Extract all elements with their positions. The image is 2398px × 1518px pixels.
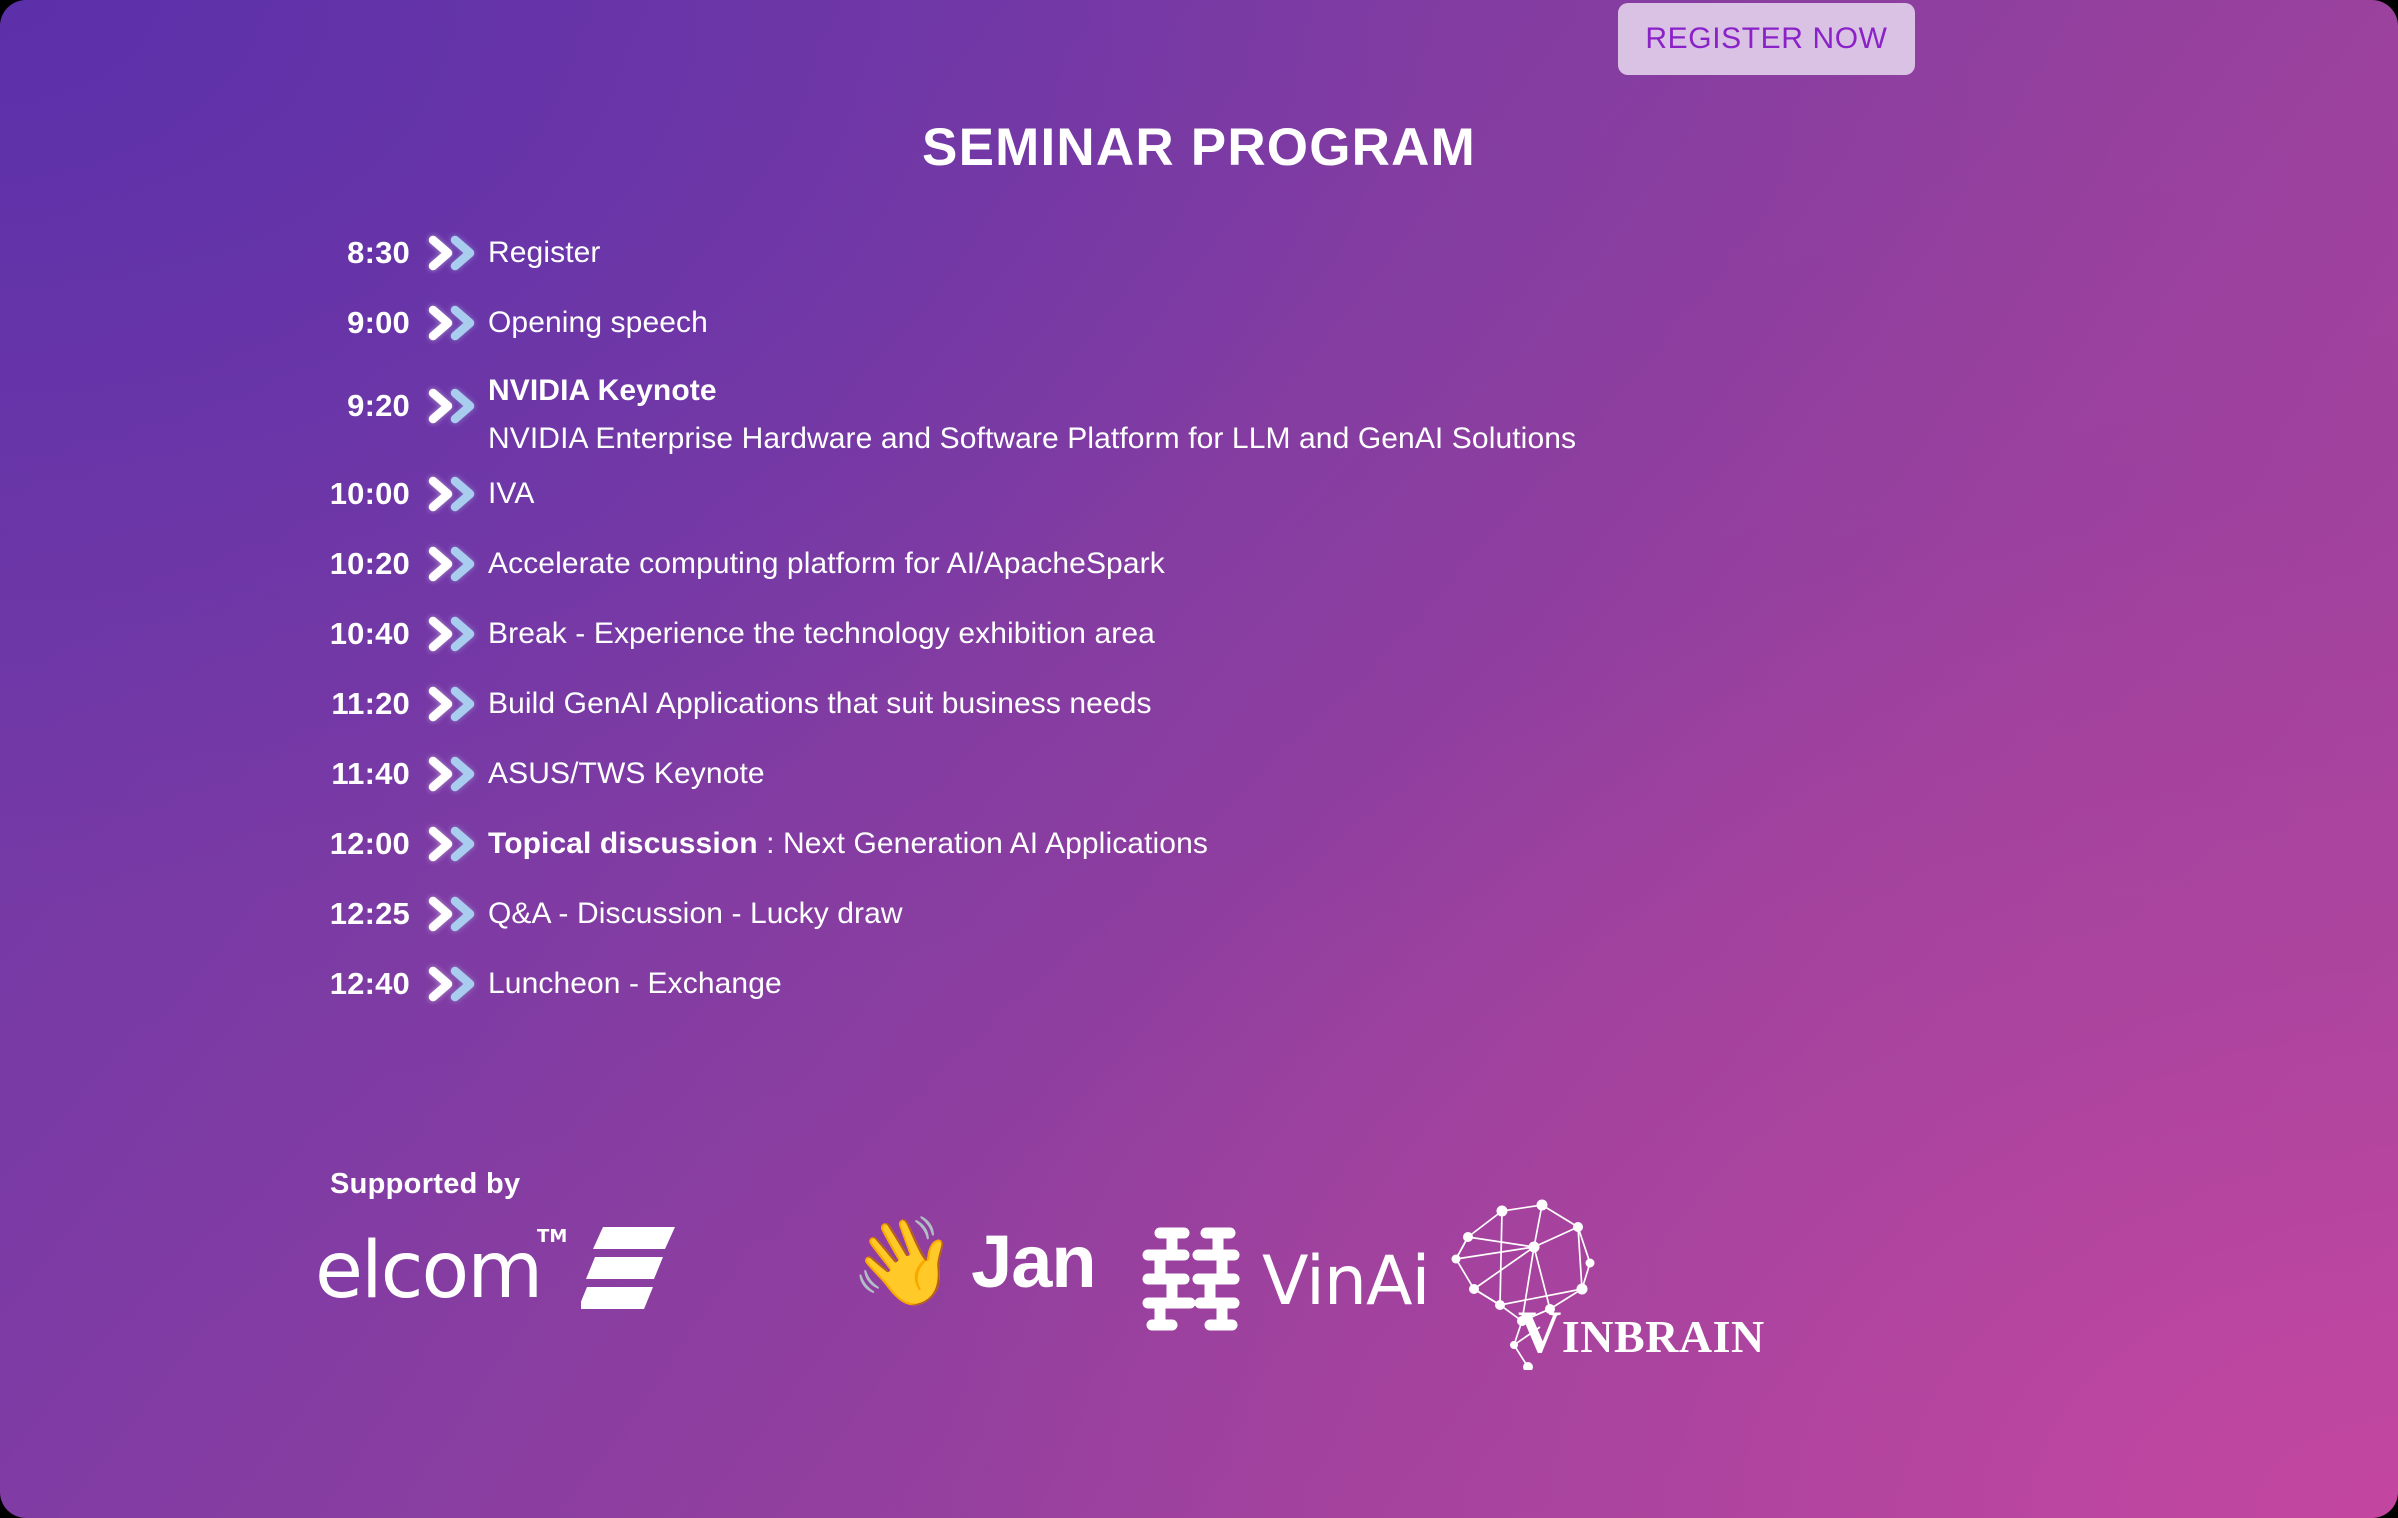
schedule-session-subtitle: NVIDIA Enterprise Hardware and Software …: [488, 419, 2398, 459]
schedule-row: 9:00 Opening speech: [0, 288, 2398, 358]
supported-by-label: Supported by: [330, 1168, 521, 1201]
logo-vinbrain-text: VINBRAIN: [1518, 1302, 1765, 1362]
schedule-description: Accelerate computing platform for AI/Apa…: [488, 529, 2398, 599]
double-chevron-right-icon: [410, 879, 488, 949]
page-title: SEMINAR PROGRAM: [0, 117, 2398, 178]
logo-jan-text: Jan: [971, 1225, 1096, 1299]
double-chevron-right-icon: [410, 599, 488, 669]
logo-elcom[interactable]: elcom TM: [315, 1225, 677, 1316]
schedule-row: 12:25 Q&A - Discussion - Lucky draw: [0, 879, 2398, 949]
schedule-description: Register: [488, 218, 2398, 288]
schedule-description-text: : Next Generation AI Applications: [758, 827, 1208, 860]
double-chevron-right-icon: [410, 459, 488, 529]
logo-elcom-text: elcom: [315, 1226, 541, 1316]
schedule-row: 10:20 Accelerate computing platform for …: [0, 529, 2398, 599]
schedule-list: 8:30 Register9:00 Opening speech9:20 NVI…: [0, 218, 2398, 1019]
schedule-description: NVIDIA KeynoteNVIDIA Enterprise Hardware…: [488, 358, 2398, 459]
schedule-row: 11:40 ASUS/TWS Keynote: [0, 739, 2398, 809]
schedule-row: 12:00 Topical discussion : Next Generati…: [0, 809, 2398, 879]
waving-hand-icon: 👋: [850, 1219, 957, 1305]
schedule-time: 10:00: [0, 459, 410, 529]
seminar-program-page: REGISTER NOW SEMINAR PROGRAM 8:30 Regist…: [0, 0, 2398, 1518]
schedule-time: 11:40: [0, 739, 410, 809]
schedule-time: 10:40: [0, 599, 410, 669]
elcom-e-mark-icon: [581, 1225, 677, 1316]
schedule-time: 12:25: [0, 879, 410, 949]
double-chevron-right-icon: [410, 358, 488, 453]
logo-vinai-text: VinAi: [1262, 1248, 1429, 1316]
schedule-session-title: NVIDIA Keynote: [488, 371, 2398, 411]
logo-vinbrain-rest: INBRAIN: [1562, 1311, 1765, 1362]
schedule-row: 9:20 NVIDIA KeynoteNVIDIA Enterprise Har…: [0, 358, 2398, 459]
trademark-icon: TM: [537, 1228, 567, 1246]
schedule-time: 9:20: [0, 358, 410, 453]
schedule-description: Opening speech: [488, 288, 2398, 358]
schedule-description: IVA: [488, 459, 2398, 529]
vinai-circuit-mark-icon: [1138, 1223, 1246, 1340]
schedule-description: Luncheon - Exchange: [488, 949, 2398, 1019]
schedule-time: 12:00: [0, 809, 410, 879]
logo-elcom-wordmark: elcom TM: [315, 1232, 541, 1310]
schedule-row: 10:40 Break - Experience the technology …: [0, 599, 2398, 669]
schedule-time: 12:40: [0, 949, 410, 1019]
double-chevron-right-icon: [410, 529, 488, 599]
schedule-time: 10:20: [0, 529, 410, 599]
schedule-time: 11:20: [0, 669, 410, 739]
double-chevron-right-icon: [410, 739, 488, 809]
schedule-row: 8:30 Register: [0, 218, 2398, 288]
double-chevron-right-icon: [410, 218, 488, 288]
schedule-description: Q&A - Discussion - Lucky draw: [488, 879, 2398, 949]
schedule-time: 8:30: [0, 218, 410, 288]
logo-vinbrain[interactable]: VINBRAIN: [1430, 1185, 1760, 1370]
schedule-row: 11:20 Build GenAI Applications that suit…: [0, 669, 2398, 739]
double-chevron-right-icon: [410, 809, 488, 879]
schedule-row: 12:40 Luncheon - Exchange: [0, 949, 2398, 1019]
schedule-description: Build GenAI Applications that suit busin…: [488, 669, 2398, 739]
logo-jan[interactable]: 👋 Jan: [850, 1219, 1096, 1305]
logo-vinai[interactable]: VinAi: [1138, 1223, 1429, 1340]
schedule-bold-prefix: Topical discussion: [488, 827, 758, 860]
schedule-row: 10:00 IVA: [0, 459, 2398, 529]
logo-vinbrain-initial: V: [1518, 1299, 1562, 1365]
schedule-description: Topical discussion : Next Generation AI …: [488, 809, 2398, 879]
sponsor-logos: elcom TM 👋 Jan: [300, 1215, 2200, 1375]
double-chevron-right-icon: [410, 669, 488, 739]
register-now-button[interactable]: REGISTER NOW: [1618, 3, 1915, 75]
schedule-description: ASUS/TWS Keynote: [488, 739, 2398, 809]
schedule-time: 9:00: [0, 288, 410, 358]
schedule-description: Break - Experience the technology exhibi…: [488, 599, 2398, 669]
double-chevron-right-icon: [410, 949, 488, 1019]
double-chevron-right-icon: [410, 288, 488, 358]
